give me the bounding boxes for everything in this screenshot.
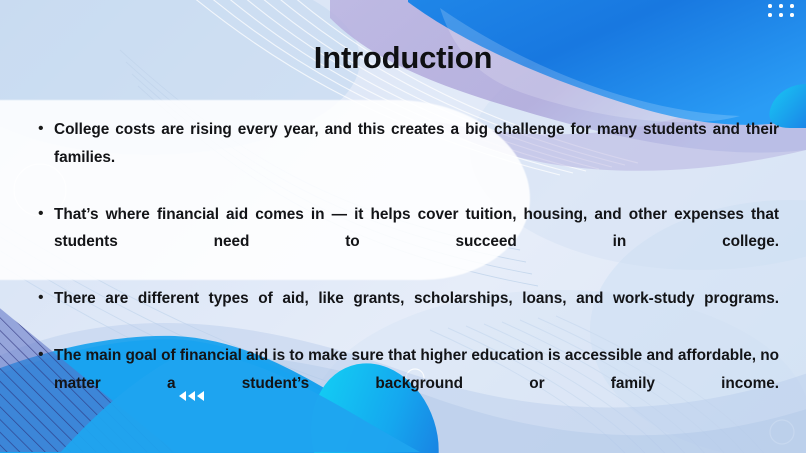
bullet-text-2: That’s where financial aid comes in — it… [54,201,779,284]
bullet-item-1: • College costs are rising every year, a… [34,116,779,199]
triple-left-triangle-icon [179,391,204,401]
slide-title: Introduction [0,40,806,76]
bullet-item-2: • That’s where financial aid comes in — … [34,201,779,284]
bullet-item-3: • There are different types of aid, like… [34,285,779,340]
bullet-marker-icon: • [34,285,54,311]
bullet-marker-icon: • [34,201,54,227]
presentation-slide: Introduction • College costs are rising … [0,0,806,453]
bullet-list: • College costs are rising every year, a… [34,116,779,427]
bullet-item-4: • The main goal of financial aid is to m… [34,342,779,425]
bullet-marker-icon: • [34,116,54,142]
bullet-text-1: College costs are rising every year, and… [54,116,779,199]
bullet-marker-icon: • [34,342,54,368]
bullet-text-4: The main goal of financial aid is to mak… [54,342,779,425]
bullet-text-3: There are different types of aid, like g… [54,285,779,340]
dot-grid-icon [768,4,800,26]
